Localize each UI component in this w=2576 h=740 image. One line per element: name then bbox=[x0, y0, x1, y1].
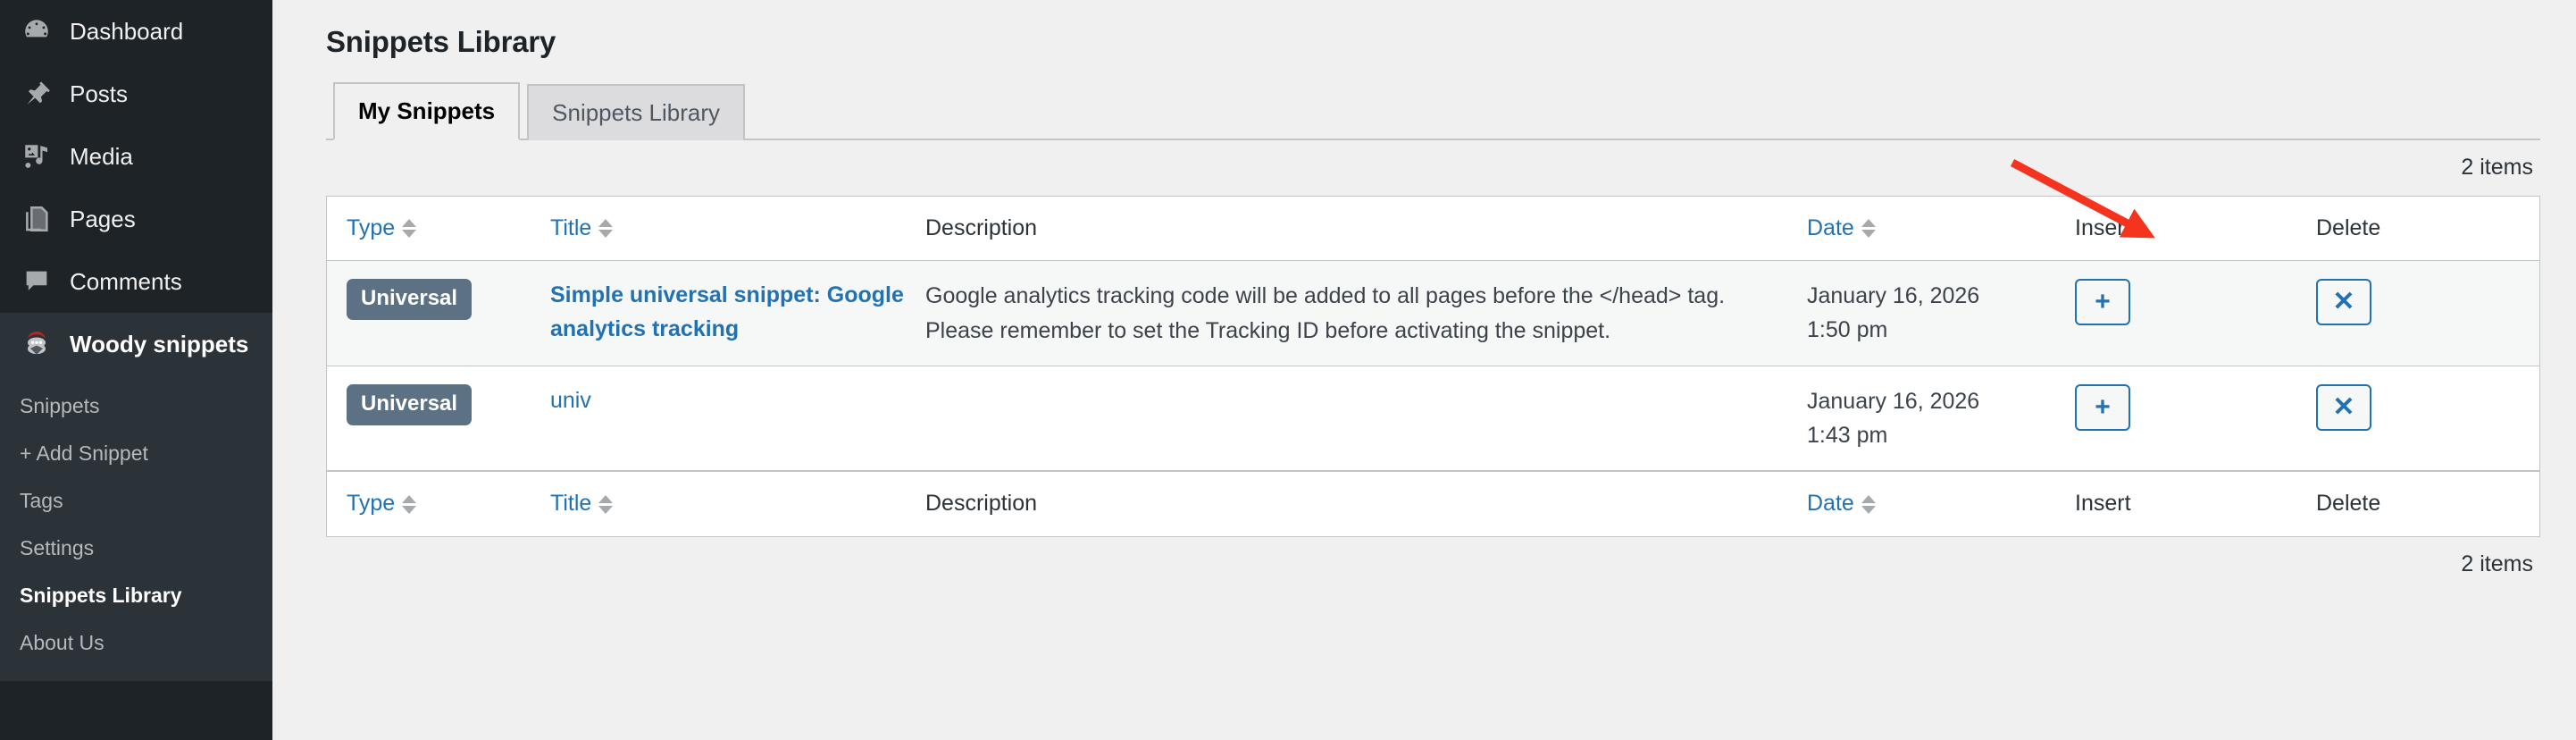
insert-snippet-button[interactable]: + bbox=[2075, 279, 2130, 325]
submenu-item-snippets[interactable]: Snippets bbox=[0, 383, 272, 430]
media-icon bbox=[20, 139, 54, 173]
submenu-item-label: Snippets bbox=[20, 394, 100, 417]
tab-my-snippets[interactable]: My Snippets bbox=[333, 82, 520, 140]
cell-delete: ✕ bbox=[2316, 366, 2539, 471]
sidebar-item-label: Woody snippets bbox=[70, 331, 248, 358]
table-body: Universal Simple universal snippet: Goog… bbox=[327, 261, 2539, 471]
sort-arrows-icon bbox=[402, 495, 416, 514]
column-label: Insert bbox=[2075, 212, 2131, 246]
cell-description bbox=[925, 366, 1807, 471]
cell-title: univ bbox=[550, 366, 925, 471]
insert-snippet-button[interactable]: + bbox=[2075, 384, 2130, 431]
sidebar-item-label: Media bbox=[70, 143, 133, 171]
column-header-date[interactable]: Date bbox=[1807, 197, 2075, 262]
cell-title: Simple universal snippet: Google analyti… bbox=[550, 261, 925, 366]
tab-label: Snippets Library bbox=[552, 99, 720, 126]
sort-link-title[interactable]: Title bbox=[550, 212, 613, 246]
sidebar-item-label: Pages bbox=[70, 206, 136, 233]
snippet-title-link[interactable]: univ bbox=[550, 388, 591, 413]
description-text: Google analytics tracking code will be a… bbox=[925, 283, 1725, 343]
cell-type: Universal bbox=[327, 366, 550, 471]
item-count-top: 2 items bbox=[2461, 155, 2533, 181]
sidebar-item-pages[interactable]: Pages bbox=[0, 188, 272, 250]
tab-snippets-library[interactable]: Snippets Library bbox=[527, 84, 745, 140]
column-footer-type[interactable]: Type bbox=[327, 471, 550, 536]
tablenav-top: 2 items bbox=[314, 140, 2540, 196]
column-label: Delete bbox=[2316, 487, 2380, 521]
sort-arrows-icon bbox=[598, 495, 613, 514]
cell-date: January 16, 2026 1:50 pm bbox=[1807, 261, 2075, 366]
sort-link-date[interactable]: Date bbox=[1807, 487, 1876, 521]
sort-arrows-icon bbox=[1861, 219, 1876, 238]
column-footer-delete: Delete bbox=[2316, 471, 2539, 536]
sidebar-item-label: Dashboard bbox=[70, 18, 183, 46]
submenu-item-label: Settings bbox=[20, 536, 94, 559]
type-badge: Universal bbox=[347, 279, 472, 320]
sort-arrows-icon bbox=[402, 219, 416, 238]
column-label: Title bbox=[550, 212, 591, 246]
sort-link-type[interactable]: Type bbox=[347, 487, 416, 521]
snippet-title-link[interactable]: Simple universal snippet: Google analyti… bbox=[550, 282, 904, 341]
column-header-insert: Insert bbox=[2075, 197, 2316, 262]
sidebar-item-dashboard[interactable]: Dashboard bbox=[0, 0, 272, 63]
column-label: Title bbox=[550, 487, 591, 521]
sidebar-item-woody-snippets[interactable]: Woody snippets bbox=[0, 313, 272, 375]
delete-snippet-button[interactable]: ✕ bbox=[2316, 384, 2371, 431]
submenu-item-add-snippet[interactable]: + Add Snippet bbox=[0, 430, 272, 477]
table-row: Universal Simple universal snippet: Goog… bbox=[327, 261, 2539, 366]
submenu-item-label: + Add Snippet bbox=[20, 441, 148, 465]
cell-insert: + bbox=[2075, 366, 2316, 471]
column-label: Insert bbox=[2075, 487, 2131, 521]
tablenav-bottom: 2 items bbox=[314, 537, 2540, 593]
column-label: Date bbox=[1807, 212, 1854, 246]
sidebar-item-media[interactable]: Media bbox=[0, 125, 272, 188]
comments-icon bbox=[20, 265, 54, 299]
snippets-table: Type Title Description bbox=[326, 196, 2540, 537]
column-header-type[interactable]: Type bbox=[327, 197, 550, 262]
column-label: Date bbox=[1807, 487, 1854, 521]
sidebar-item-label: Posts bbox=[70, 80, 128, 108]
sidebar-item-posts[interactable]: Posts bbox=[0, 63, 272, 125]
time-text: 1:43 pm bbox=[1807, 418, 2075, 452]
sort-arrows-icon bbox=[598, 219, 613, 238]
table-header-row: Type Title Description bbox=[327, 197, 2539, 262]
pages-icon bbox=[20, 202, 54, 236]
date-text: January 16, 2026 bbox=[1807, 279, 2075, 313]
main-content: Snippets Library My Snippets Snippets Li… bbox=[272, 0, 2576, 740]
submenu-item-label: About Us bbox=[20, 631, 105, 654]
tab-label: My Snippets bbox=[358, 97, 495, 124]
submenu-item-settings[interactable]: Settings bbox=[0, 525, 272, 572]
column-footer-insert: Insert bbox=[2075, 471, 2316, 536]
column-footer-title[interactable]: Title bbox=[550, 471, 925, 536]
column-footer-date[interactable]: Date bbox=[1807, 471, 2075, 536]
sort-link-type[interactable]: Type bbox=[347, 212, 416, 246]
delete-snippet-button[interactable]: ✕ bbox=[2316, 279, 2371, 325]
submenu-item-about-us[interactable]: About Us bbox=[0, 619, 272, 667]
cell-description: Google analytics tracking code will be a… bbox=[925, 261, 1807, 366]
item-count-bottom: 2 items bbox=[2461, 551, 2533, 577]
submenu-item-snippets-library[interactable]: Snippets Library bbox=[0, 572, 272, 619]
submenu-item-label: Tags bbox=[20, 489, 63, 512]
pin-icon bbox=[20, 77, 54, 111]
table-footer-row: Type Title Description bbox=[327, 471, 2539, 536]
column-label: Type bbox=[347, 212, 395, 246]
date-text: January 16, 2026 bbox=[1807, 384, 2075, 418]
cell-delete: ✕ bbox=[2316, 261, 2539, 366]
page-title: Snippets Library bbox=[326, 25, 2540, 59]
cell-date: January 16, 2026 1:43 pm bbox=[1807, 366, 2075, 471]
dashboard-icon bbox=[20, 14, 54, 48]
time-text: 1:50 pm bbox=[1807, 313, 2075, 347]
tab-bar: My Snippets Snippets Library bbox=[326, 82, 2540, 140]
sort-link-date[interactable]: Date bbox=[1807, 212, 1876, 246]
column-label: Description bbox=[925, 215, 1037, 240]
admin-sidebar: Dashboard Posts Media bbox=[0, 0, 272, 740]
table-row: Universal univ January 16, 2026 1:43 pm … bbox=[327, 366, 2539, 471]
wordpress-admin-screen: Dashboard Posts Media bbox=[0, 0, 2576, 740]
column-footer-description: Description bbox=[925, 471, 1807, 536]
type-badge: Universal bbox=[347, 384, 472, 425]
sidebar-item-comments[interactable]: Comments bbox=[0, 250, 272, 313]
table-foot: Type Title Description bbox=[327, 471, 2539, 536]
cell-type: Universal bbox=[327, 261, 550, 366]
sort-link-title[interactable]: Title bbox=[550, 487, 613, 521]
woody-logo-icon bbox=[20, 327, 54, 361]
sidebar-item-label: Comments bbox=[70, 268, 182, 296]
cell-insert: + bbox=[2075, 261, 2316, 366]
column-label: Delete bbox=[2316, 212, 2380, 246]
column-header-delete: Delete bbox=[2316, 197, 2539, 262]
submenu-item-label: Snippets Library bbox=[20, 584, 181, 607]
column-header-title[interactable]: Title bbox=[550, 197, 925, 262]
sort-arrows-icon bbox=[1861, 495, 1876, 514]
column-header-description: Description bbox=[925, 197, 1807, 262]
table-head: Type Title Description bbox=[327, 197, 2539, 262]
woody-snippets-submenu: Snippets + Add Snippet Tags Settings Sni… bbox=[0, 375, 272, 681]
column-label: Description bbox=[925, 491, 1037, 516]
submenu-item-tags[interactable]: Tags bbox=[0, 477, 272, 525]
column-label: Type bbox=[347, 487, 395, 521]
